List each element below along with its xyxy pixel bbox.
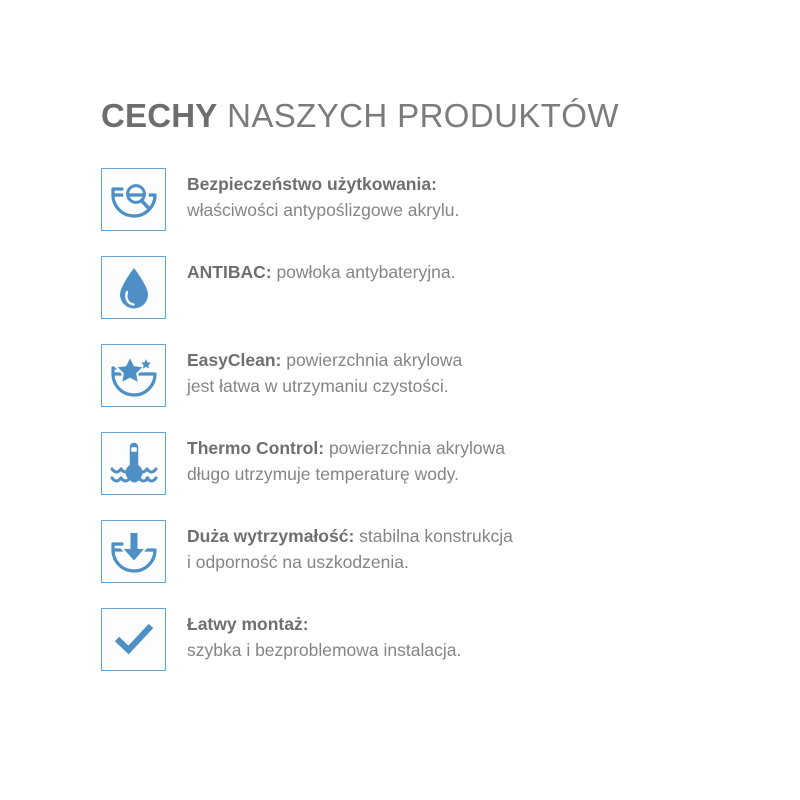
list-item-text: Thermo Control: powierzchnia akrylowa dł… — [187, 432, 505, 487]
thermometer-waves-icon — [101, 432, 166, 495]
infographic-page: CECHY NASZYCH PRODUKTÓW Bezpieczeństwo u… — [0, 0, 800, 800]
list-item-text: ANTIBAC: powłoka antybateryjna. — [187, 256, 455, 285]
list-item-desc-2: długo utrzymuje temperaturę wody. — [187, 461, 505, 487]
list-item-desc: powierzchnia akrylowa — [281, 350, 462, 370]
list-item-title: Thermo Control: — [187, 438, 324, 458]
page-title: CECHY NASZYCH PRODUKTÓW — [101, 96, 741, 136]
list-item-title-line: Bezpieczeństwo użytkowania: — [187, 171, 459, 197]
list-item-title-line: Łatwy montaż: — [187, 611, 461, 637]
list-item-text: Łatwy montaż: szybka i bezproblemowa ins… — [187, 608, 461, 663]
basin-down-arrow-icon — [101, 520, 166, 583]
list-item-title-line: EasyClean: powierzchnia akrylowa — [187, 347, 462, 373]
list-item-desc: szybka i bezproblemowa instalacja. — [187, 637, 461, 663]
list-item-desc: właściwości antypoślizgowe akrylu. — [187, 197, 459, 223]
list-item-text: Duża wytrzymałość: stabilna konstrukcja … — [187, 520, 513, 575]
list-item: ANTIBAC: powłoka antybateryjna. — [101, 256, 741, 319]
list-item-title: Bezpieczeństwo użytkowania: — [187, 174, 437, 194]
list-item-desc: powłoka antybateryjna. — [272, 262, 456, 282]
list-item-desc-2: jest łatwa w utrzymaniu czystości. — [187, 373, 462, 399]
page-title-bold: CECHY — [101, 97, 218, 134]
list-item: Łatwy montaż: szybka i bezproblemowa ins… — [101, 608, 741, 671]
list-item-title: Duża wytrzymałość: — [187, 526, 354, 546]
list-item: EasyClean: powierzchnia akrylowa jest ła… — [101, 344, 741, 407]
list-item-title: Łatwy montaż: — [187, 614, 309, 634]
list-item-title-line: Thermo Control: powierzchnia akrylowa — [187, 435, 505, 461]
list-item: Duża wytrzymałość: stabilna konstrukcja … — [101, 520, 741, 583]
list-item-desc: stabilna konstrukcja — [354, 526, 513, 546]
list-item-desc-2: i odporność na uszkodzenia. — [187, 549, 513, 575]
feature-list: Bezpieczeństwo użytkowania: właściwości … — [101, 168, 741, 696]
basin-magnifier-icon — [101, 168, 166, 231]
water-drop-icon — [101, 256, 166, 319]
list-item-text: Bezpieczeństwo użytkowania: właściwości … — [187, 168, 459, 223]
list-item-title-line: ANTIBAC: powłoka antybateryjna. — [187, 259, 455, 285]
list-item-desc: powierzchnia akrylowa — [324, 438, 505, 458]
list-item: Bezpieczeństwo użytkowania: właściwości … — [101, 168, 741, 231]
list-item-title: EasyClean: — [187, 350, 281, 370]
list-item-text: EasyClean: powierzchnia akrylowa jest ła… — [187, 344, 462, 399]
list-item-title-line: Duża wytrzymałość: stabilna konstrukcja — [187, 523, 513, 549]
checkmark-icon — [101, 608, 166, 671]
list-item-title: ANTIBAC: — [187, 262, 272, 282]
basin-star-icon — [101, 344, 166, 407]
list-item: Thermo Control: powierzchnia akrylowa dł… — [101, 432, 741, 495]
page-title-rest: NASZYCH PRODUKTÓW — [218, 97, 619, 134]
